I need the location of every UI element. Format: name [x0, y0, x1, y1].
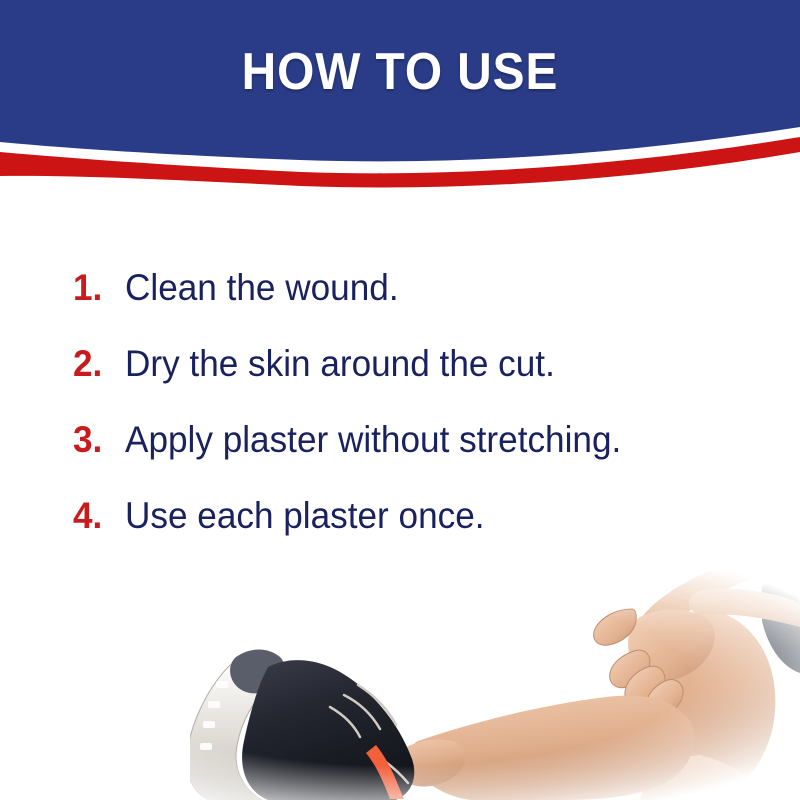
step-number: 2. — [73, 344, 122, 384]
step-number: 1. — [73, 268, 122, 308]
list-item: 1. Clean the wound. — [0, 268, 800, 344]
step-number: 3. — [73, 420, 122, 460]
page-title: HOW TO USE — [32, 43, 768, 101]
step-text: Use each plaster once. — [125, 496, 485, 536]
list-item: 3. Apply plaster without stretching. — [0, 420, 800, 496]
header-banner: HOW TO USE — [0, 0, 800, 200]
step-text: Apply plaster without stretching. — [125, 420, 621, 460]
photo-legs-holding-knee — [0, 555, 800, 800]
list-item: 2. Dry the skin around the cut. — [0, 344, 800, 420]
photo-left-mask — [0, 555, 190, 800]
step-text: Clean the wound. — [125, 268, 399, 308]
steps-list: 1. Clean the wound. 2. Dry the skin arou… — [0, 268, 800, 572]
how-to-use-infographic: HOW TO USE 1. Clean the wound. 2. Dry th… — [0, 0, 800, 800]
photo-illustration — [0, 555, 800, 800]
step-text: Dry the skin around the cut. — [125, 344, 555, 384]
step-number: 4. — [73, 496, 122, 536]
photo-top-mask — [0, 555, 800, 571]
